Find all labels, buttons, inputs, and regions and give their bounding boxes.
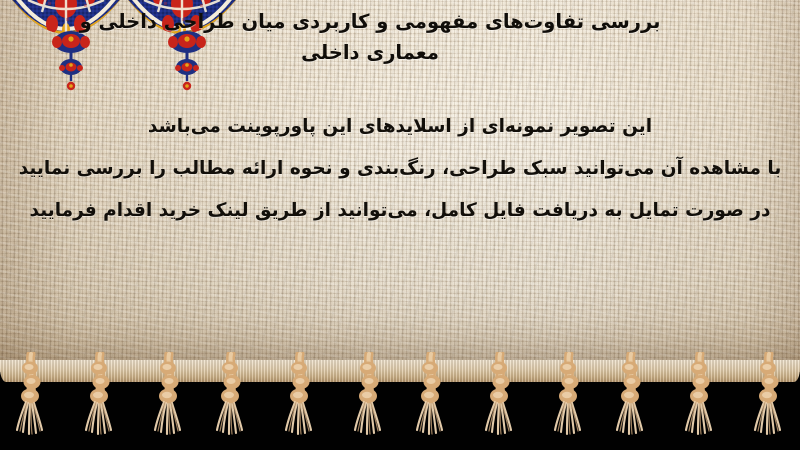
fringe-tassel [142, 352, 196, 448]
slide-title-line-1: بررسی تفاوت‌های مفهومی و کاربردی میان طر… [0, 6, 740, 37]
fringe-tassel [273, 352, 327, 448]
slide-body-line-2: با مشاهده آن می‌توانید سبک طراحی، رنگ‌بن… [0, 148, 800, 190]
fringe-tassel [473, 352, 527, 448]
fringe-tassel [342, 352, 396, 448]
slide-title: بررسی تفاوت‌های مفهومی و کاربردی میان طر… [0, 6, 800, 68]
slide-body-line-3: در صورت تمایل به دریافت فایل کامل، می‌تو… [0, 190, 800, 232]
fringe-tassel [204, 352, 258, 448]
fringe-tassel [604, 352, 658, 448]
slide-body-line-1: این تصویر نمونه‌ای از اسلایدهای این پاور… [0, 106, 800, 148]
slide-title-line-2: معماری داخلی [0, 37, 740, 68]
slide-body-text: این تصویر نمونه‌ای از اسلایدهای این پاور… [0, 106, 800, 232]
fringe-tassel [73, 352, 127, 448]
fringe-tassel [673, 352, 727, 448]
fringe-tassel [542, 352, 596, 448]
fringe-tassel [404, 352, 458, 448]
slide-canvas: بررسی تفاوت‌های مفهومی و کاربردی میان طر… [0, 0, 800, 450]
carpet-knotted-fringe-tassels [0, 352, 800, 450]
fringe-tassel [4, 352, 58, 448]
fringe-tassel [742, 352, 796, 448]
